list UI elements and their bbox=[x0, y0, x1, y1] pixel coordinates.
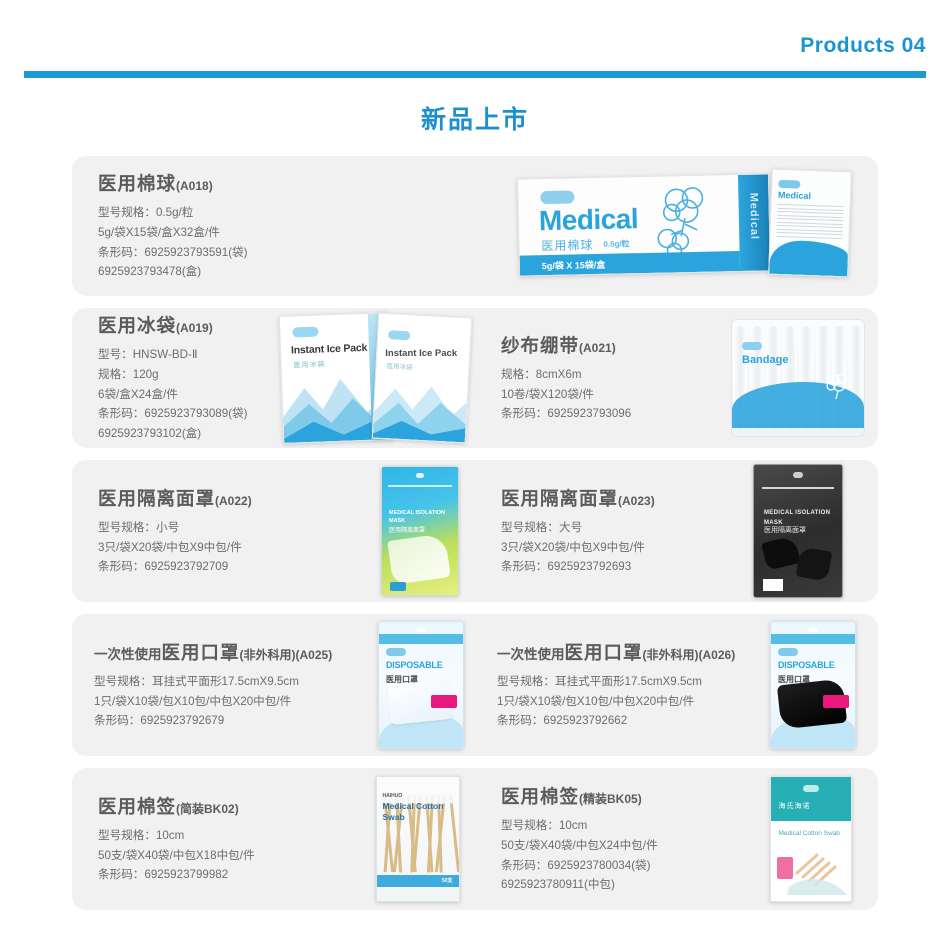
cotton-swab-bag-art: HAIHUO Medical Cotton Swab 50支 bbox=[376, 776, 460, 902]
pink-tag-icon bbox=[431, 695, 457, 708]
product-spec: 型号：HNSW-BD-Ⅱ bbox=[98, 345, 269, 365]
product-spec: 条形码：6925923792662 bbox=[497, 711, 742, 731]
product-info-a023: 医用隔离面罩(A023) 型号规格：大号 3只/袋X20袋/中包X9中包/件 条… bbox=[475, 485, 718, 578]
product-name-a021: 纱布绷带(A021) bbox=[501, 332, 712, 358]
face-shield-dark-art: MEDICAL ISOLATION MASK 医用隔离面罩 bbox=[753, 464, 843, 598]
product-cell-a021: 纱布绷带(A021) 规格：8cmX6m 10卷/袋X120袋/件 条形码：69… bbox=[475, 308, 878, 448]
pouch-top-bar bbox=[762, 487, 834, 489]
box-bottom-text: 5g/袋 X 15袋/盒 bbox=[542, 258, 606, 272]
pink-tag-icon bbox=[823, 695, 849, 708]
cotton-flower-icon bbox=[822, 372, 852, 402]
box-side-panel: Medical bbox=[738, 174, 770, 271]
product-spec: 6925923780911(中包) bbox=[501, 875, 737, 895]
product-name-main: 医用棉签 bbox=[98, 796, 176, 817]
product-spec: 型号规格：10cm bbox=[501, 816, 737, 836]
product-spec: 规格：120g bbox=[98, 365, 269, 385]
product-spec: 条形码：6925923780034(袋) bbox=[501, 856, 737, 876]
product-name-a025: 一次性使用医用口罩(非外科用)(A025) bbox=[94, 639, 361, 665]
product-spec: 10卷/袋X120袋/件 bbox=[501, 385, 712, 405]
product-image-a026: DISPOSABLE 医用口罩 bbox=[748, 621, 878, 749]
product-image-a023: MEDICAL ISOLATION MASK 医用隔离面罩 bbox=[718, 464, 878, 598]
ice-pack-pouch-art: Instant Ice Pack 医用冰袋 bbox=[372, 313, 472, 444]
product-info-a025: 一次性使用医用口罩(非外科用)(A025) 型号规格：耳挂式平面形17.5cmX… bbox=[72, 639, 367, 732]
product-spec: 型号规格：0.5g/粒 bbox=[98, 203, 492, 223]
product-name-a019: 医用冰袋(A019) bbox=[98, 312, 269, 338]
product-image-a021: Bandage bbox=[718, 319, 878, 437]
bandage-title-en: Bandage bbox=[742, 354, 788, 366]
product-name-suffix: (非外科用) bbox=[643, 648, 699, 662]
swab-title-en: Medical Cotton Swab bbox=[383, 801, 459, 823]
product-name-main: 医用隔离面罩 bbox=[501, 488, 618, 509]
product-name-suffix: (非外科用) bbox=[240, 648, 296, 662]
product-card-row-4[interactable]: 一次性使用医用口罩(非外科用)(A025) 型号规格：耳挂式平面形17.5cmX… bbox=[72, 614, 878, 756]
mountain-graphic-icon bbox=[373, 368, 469, 443]
hand-swabs-graphic-icon bbox=[787, 843, 849, 895]
product-code: (A023) bbox=[618, 494, 655, 508]
product-card-row-5[interactable]: 医用棉签(简装BK02) 型号规格：10cm 50支/袋X40袋/中包X18中包… bbox=[72, 768, 878, 910]
product-name-main: 医用口罩 bbox=[565, 642, 643, 663]
product-spec: 规格：8cmX6m bbox=[501, 365, 712, 385]
product-spec: 1只/袋X10袋/包X10包/中包X20中包/件 bbox=[497, 692, 742, 712]
product-spec: 3只/袋X20袋/中包X9中包/件 bbox=[98, 538, 359, 558]
box-gram-label: 0.5g/粒 bbox=[603, 238, 629, 250]
product-name-main: 医用冰袋 bbox=[98, 315, 176, 336]
sachet-title: Medical bbox=[778, 190, 811, 201]
barcode-icon bbox=[763, 579, 783, 591]
brand-chip-icon bbox=[778, 648, 798, 656]
shield-mask-graphic bbox=[796, 546, 833, 581]
cotton-ball-sachet-art: Medical bbox=[768, 169, 852, 278]
dispo-title-en: DISPOSABLE bbox=[386, 660, 443, 670]
cotton-ball-box-art: Medical 医用棉球 0.5g/粒 bbox=[517, 173, 771, 276]
product-spec: 条形码：6925923793096 bbox=[501, 404, 712, 424]
pouch-corner-chip-icon bbox=[390, 582, 406, 591]
brand-chip-icon bbox=[742, 342, 762, 350]
product-code: (简装BK02) bbox=[176, 802, 239, 816]
shield-mask-graphic bbox=[387, 533, 451, 585]
product-name-main: 医用棉签 bbox=[501, 786, 579, 807]
bandage-pack-art: Bandage bbox=[731, 319, 865, 437]
icepouch-title-en: Instant Ice Pack bbox=[385, 348, 457, 359]
product-name-bk02: 医用棉签(简装BK02) bbox=[98, 793, 354, 819]
disposable-mask-white-art: DISPOSABLE 医用口罩 bbox=[378, 621, 464, 749]
product-spec: 型号规格：大号 bbox=[501, 518, 712, 538]
product-spec: 6925923793478(盒) bbox=[98, 262, 492, 282]
sachet-wave-graphic bbox=[769, 240, 848, 277]
swab-bottom-band: 50支 bbox=[377, 875, 459, 887]
product-cell-a026: 一次性使用医用口罩(非外科用)(A026) 型号规格：耳挂式平面形17.5cmX… bbox=[475, 614, 878, 756]
hang-hole-icon bbox=[416, 627, 426, 632]
product-image-a018: Medical 医用棉球 0.5g/粒 bbox=[498, 166, 878, 286]
product-code: (A019) bbox=[176, 321, 213, 335]
header-divider bbox=[24, 71, 926, 78]
product-image-a025: DISPOSABLE 医用口罩 bbox=[367, 621, 475, 749]
product-spec: 型号规格：10cm bbox=[98, 826, 354, 846]
brand-chip-icon bbox=[540, 190, 574, 204]
product-cell-a022: 医用隔离面罩(A022) 型号规格：小号 3只/袋X20袋/中包X9中包/件 条… bbox=[72, 460, 475, 602]
shield-title-cn: 医用隔离面罩 bbox=[764, 525, 806, 535]
hang-hole-icon bbox=[416, 473, 424, 478]
swab-box-header: 海氏海诺 bbox=[771, 777, 851, 821]
product-spec: 条形码：6925923792679 bbox=[94, 711, 361, 731]
brand-chip-icon bbox=[292, 327, 318, 338]
product-spec: 50支/袋X40袋/中包X18中包/件 bbox=[98, 846, 354, 866]
product-spec: 型号规格：小号 bbox=[98, 518, 359, 538]
cotton-flower-icon bbox=[646, 183, 722, 261]
dispo-title-en: DISPOSABLE bbox=[778, 660, 835, 670]
box-bottom-bar: 5g/袋 X 15袋/盒 bbox=[520, 251, 740, 276]
pouch-top-bar bbox=[388, 485, 452, 487]
product-spec: 条形码：6925923793591(袋) bbox=[98, 243, 492, 263]
hang-hole-icon bbox=[803, 785, 819, 792]
pouch-top-band bbox=[771, 634, 855, 644]
product-info-a018: 医用棉球(A018) 型号规格：0.5g/粒 5g/袋X15袋/盒X32盒/件 … bbox=[72, 170, 498, 283]
product-spec: 条形码：6925923792693 bbox=[501, 557, 712, 577]
brand-chip-icon bbox=[388, 330, 410, 340]
product-spec: 型号规格：耳挂式平面形17.5cmX9.5cm bbox=[94, 672, 361, 692]
product-card-row-3[interactable]: 医用隔离面罩(A022) 型号规格：小号 3只/袋X20袋/中包X9中包/件 条… bbox=[72, 460, 878, 602]
swab-brand-label: HAIHUO bbox=[383, 793, 403, 799]
page-header: Products 04 bbox=[0, 0, 950, 78]
product-name-a018: 医用棉球(A018) bbox=[98, 170, 492, 196]
product-image-a019: Instant Ice Pack 医用冰袋 Instant Ice Pack 医… bbox=[275, 314, 475, 442]
product-code: (A021) bbox=[579, 341, 616, 355]
swab-title-en: Medical Cotton Swab bbox=[779, 829, 840, 839]
product-info-a026: 一次性使用医用口罩(非外科用)(A026) 型号规格：耳挂式平面形17.5cmX… bbox=[475, 639, 748, 732]
hang-hole-icon bbox=[808, 627, 818, 632]
product-name-a026: 一次性使用医用口罩(非外科用)(A026) bbox=[497, 639, 742, 665]
product-cell-a019: 医用冰袋(A019) 型号：HNSW-BD-Ⅱ 规格：120g 6袋/盒X24盒… bbox=[72, 308, 475, 448]
product-spec: 条形码：6925923799982 bbox=[98, 865, 354, 885]
sachet-text-lines bbox=[776, 204, 843, 241]
product-card-row-2[interactable]: 医用冰袋(A019) 型号：HNSW-BD-Ⅱ 规格：120g 6袋/盒X24盒… bbox=[72, 308, 878, 448]
product-code: (A018) bbox=[176, 179, 213, 193]
pouch-top-band bbox=[379, 634, 463, 644]
product-spec: 6925923793102(盒) bbox=[98, 424, 269, 444]
product-name-main: 医用棉球 bbox=[98, 173, 176, 194]
product-code: (精装BK05) bbox=[579, 792, 642, 806]
face-shield-light-art: MEDICAL ISOLATION MASK 医用隔离面罩 bbox=[381, 466, 459, 596]
product-cell-a025: 一次性使用医用口罩(非外科用)(A025) 型号规格：耳挂式平面形17.5cmX… bbox=[72, 614, 475, 756]
product-image-bk05: 海氏海诺 Medical Cotton Swab bbox=[743, 776, 878, 902]
product-code: (A022) bbox=[215, 494, 252, 508]
product-cell-bk02: 医用棉签(简装BK02) 型号规格：10cm 50支/袋X40袋/中包X18中包… bbox=[72, 768, 475, 910]
shield-title-cn: 医用隔离面罩 bbox=[389, 525, 425, 534]
product-name-prefix: 一次性使用 bbox=[497, 647, 565, 662]
product-cell-a023: 医用隔离面罩(A023) 型号规格：大号 3只/袋X20袋/中包X9中包/件 条… bbox=[475, 460, 878, 602]
product-name-main: 医用隔离面罩 bbox=[98, 488, 215, 509]
product-image-bk02: HAIHUO Medical Cotton Swab 50支 bbox=[360, 776, 475, 902]
product-card-a018[interactable]: 医用棉球(A018) 型号规格：0.5g/粒 5g/袋X15袋/盒X32盒/件 … bbox=[72, 156, 878, 296]
section-title: 新品上市 bbox=[421, 100, 529, 136]
product-code: (A025) bbox=[296, 648, 333, 662]
product-cell-bk05: 医用棉签(精装BK05) 型号规格：10cm 50支/袋X40袋/中包X24中包… bbox=[475, 768, 878, 910]
product-code: (A026) bbox=[699, 648, 736, 662]
shield-mask-graphic bbox=[761, 535, 801, 570]
product-name-prefix: 一次性使用 bbox=[94, 647, 162, 662]
product-spec: 条形码：6925923792709 bbox=[98, 557, 359, 577]
product-spec: 50支/袋X40袋/中包X24中包/件 bbox=[501, 836, 737, 856]
swab-count-label: 50支 bbox=[442, 877, 453, 884]
product-name-main: 纱布绷带 bbox=[501, 335, 579, 356]
hang-hole-icon bbox=[793, 472, 803, 478]
box-title-en: Medical bbox=[539, 203, 639, 237]
product-name-a022: 医用隔离面罩(A022) bbox=[98, 485, 359, 511]
product-cell-a018: 医用棉球(A018) 型号规格：0.5g/粒 5g/袋X15袋/盒X32盒/件 … bbox=[72, 156, 878, 296]
box-side-text: Medical bbox=[747, 193, 760, 241]
product-spec: 6袋/盒X24盒/件 bbox=[98, 385, 269, 405]
product-info-a019: 医用冰袋(A019) 型号：HNSW-BD-Ⅱ 规格：120g 6袋/盒X24盒… bbox=[72, 312, 275, 445]
icebox-title-en: Instant Ice Pack bbox=[291, 342, 368, 357]
brand-chip-icon bbox=[386, 648, 406, 656]
product-name-bk05: 医用棉签(精装BK05) bbox=[501, 783, 737, 809]
product-name-main: 医用口罩 bbox=[162, 642, 240, 663]
product-info-a022: 医用隔离面罩(A022) 型号规格：小号 3只/袋X20袋/中包X9中包/件 条… bbox=[72, 485, 365, 578]
disposable-mask-black-art: DISPOSABLE 医用口罩 bbox=[770, 621, 856, 749]
sachet-brand-chip-icon bbox=[778, 180, 800, 189]
product-spec: 3只/袋X20袋/中包X9中包/件 bbox=[501, 538, 712, 558]
product-spec: 条形码：6925923793089(袋) bbox=[98, 404, 269, 424]
shield-title-en: MEDICAL ISOLATION MASK bbox=[389, 509, 458, 526]
cotton-swab-box-art: 海氏海诺 Medical Cotton Swab bbox=[770, 776, 852, 902]
product-image-a022: MEDICAL ISOLATION MASK 医用隔离面罩 bbox=[365, 466, 475, 596]
product-spec: 5g/袋X15袋/盒X32盒/件 bbox=[98, 223, 492, 243]
product-info-bk02: 医用棉签(简装BK02) 型号规格：10cm 50支/袋X40袋/中包X18中包… bbox=[72, 793, 360, 886]
section-title-container: 新品上市 bbox=[0, 78, 950, 156]
swab-brand-cn: 海氏海诺 bbox=[779, 801, 811, 811]
product-list: 医用棉球(A018) 型号规格：0.5g/粒 5g/袋X15袋/盒X32盒/件 … bbox=[0, 156, 950, 910]
product-spec: 型号规格：耳挂式平面形17.5cmX9.5cm bbox=[497, 672, 742, 692]
page-title: Products 04 bbox=[800, 34, 926, 58]
product-name-a023: 医用隔离面罩(A023) bbox=[501, 485, 712, 511]
box-title-cn: 医用棉球 bbox=[541, 236, 593, 254]
product-spec: 1只/袋X10袋/包X10包/中包X20中包/件 bbox=[94, 692, 361, 712]
product-info-bk05: 医用棉签(精装BK05) 型号规格：10cm 50支/袋X40袋/中包X24中包… bbox=[475, 783, 743, 896]
product-info-a021: 纱布绷带(A021) 规格：8cmX6m 10卷/袋X120袋/件 条形码：69… bbox=[475, 332, 718, 425]
